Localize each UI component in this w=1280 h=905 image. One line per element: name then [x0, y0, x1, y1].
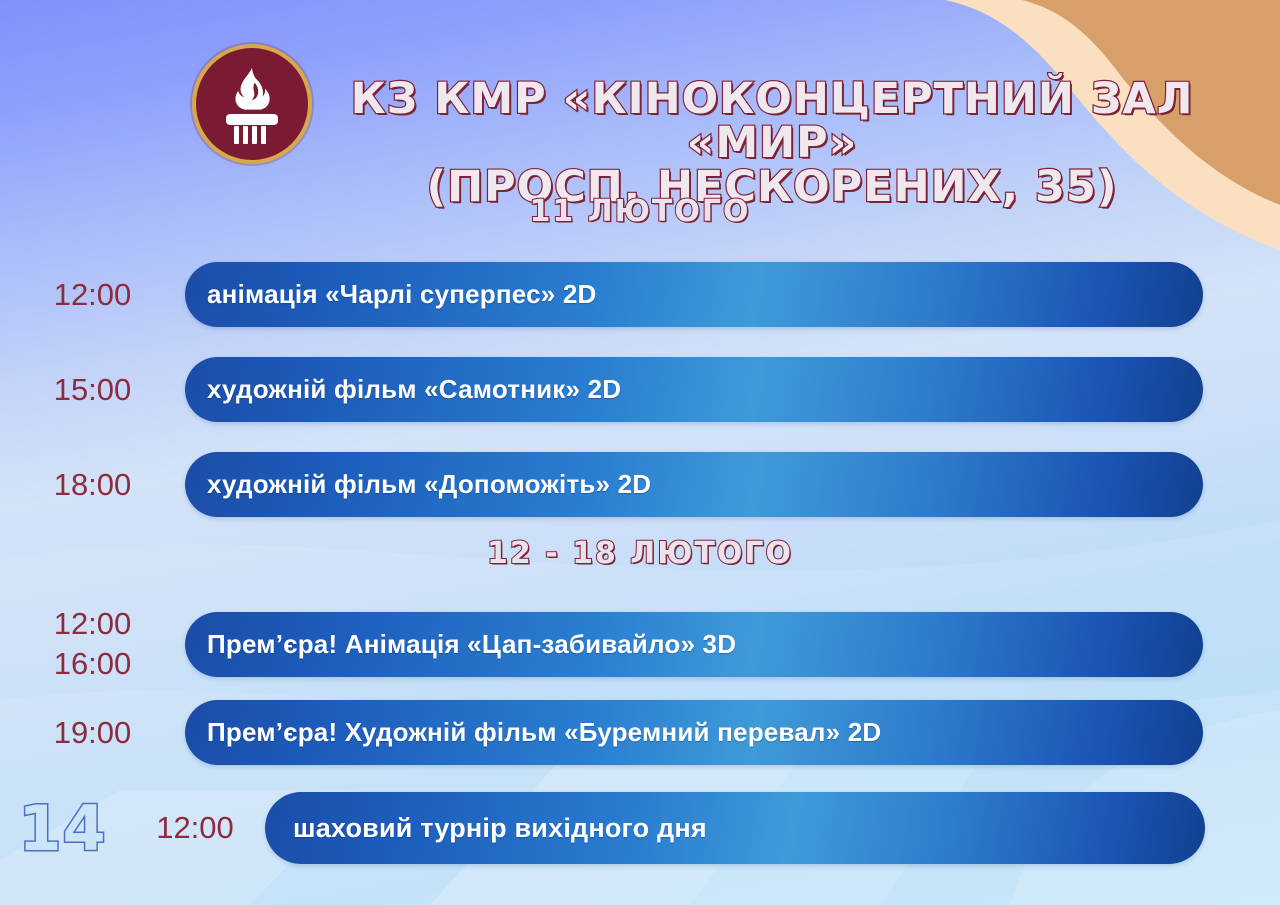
schedule-row[interactable]: 18:00 художній фільм «Допоможіть» 2D [0, 452, 1280, 517]
row-time: 15:00 [0, 372, 185, 408]
schedule-row[interactable]: 12:00 анімація «Чарлі суперпес» 2D [0, 262, 1280, 327]
event-pill[interactable]: художній фільм «Самотник» 2D [185, 357, 1203, 422]
schedule-row[interactable]: 19:00 Прем’єра! Художній фільм «Буремний… [0, 700, 1280, 765]
event-title: анімація «Чарлі суперпес» 2D [185, 279, 597, 310]
row-time: 12:00 [0, 277, 185, 313]
row-time: 12:00 [125, 810, 265, 846]
event-title: Прем’єра! Анімація «Цап-забивайло» 3D [185, 629, 736, 660]
poster-canvas: КЗ КМР «КІНОКОНЦЕРТНИЙ ЗАЛ «МИР» (ПРОСП.… [0, 0, 1280, 905]
page-title: КЗ КМР «КІНОКОНЦЕРТНИЙ ЗАЛ «МИР» (ПРОСП.… [322, 78, 1222, 210]
row-time-secondary: 16:00 [0, 644, 185, 684]
event-pill[interactable]: художній фільм «Допоможіть» 2D [185, 452, 1203, 517]
flame-column-emblem-icon [210, 62, 294, 146]
date-heading-2: 12 - 18 ЛЮТОГО [0, 536, 1280, 571]
schedule-row[interactable]: 12:00 16:00 Прем’єра! Анімація «Цап-заби… [0, 605, 1280, 683]
row-time: 19:00 [0, 715, 185, 751]
event-title: художній фільм «Самотник» 2D [185, 374, 621, 405]
schedule-row[interactable]: 15:00 художній фільм «Самотник» 2D [0, 357, 1280, 422]
event-pill[interactable]: шаховий турнір вихідного дня [265, 792, 1205, 864]
event-title: художній фільм «Допоможіть» 2D [185, 469, 651, 500]
event-pill[interactable]: Прем’єра! Анімація «Цап-забивайло» 3D [185, 612, 1203, 677]
row-time-group: 12:00 16:00 [0, 604, 185, 683]
schedule-row-special[interactable]: 14 12:00 шаховий турнір вихідного дня [0, 788, 1280, 868]
poster-header: КЗ КМР «КІНОКОНЦЕРТНИЙ ЗАЛ «МИР» (ПРОСП.… [0, 0, 1280, 200]
event-pill[interactable]: анімація «Чарлі суперпес» 2D [185, 262, 1203, 327]
title-line-1: КЗ КМР «КІНОКОНЦЕРТНИЙ ЗАЛ «МИР» [351, 74, 1194, 168]
event-title: шаховий турнір вихідного дня [265, 813, 707, 844]
row-time: 12:00 [0, 604, 185, 644]
event-title: Прем’єра! Художній фільм «Буремний перев… [185, 717, 881, 748]
venue-logo [196, 48, 308, 160]
row-time: 18:00 [0, 467, 185, 503]
day-number: 14 [0, 792, 125, 865]
date-heading-1: 11 ЛЮТОГО [0, 194, 1280, 229]
event-pill[interactable]: Прем’єра! Художній фільм «Буремний перев… [185, 700, 1203, 765]
